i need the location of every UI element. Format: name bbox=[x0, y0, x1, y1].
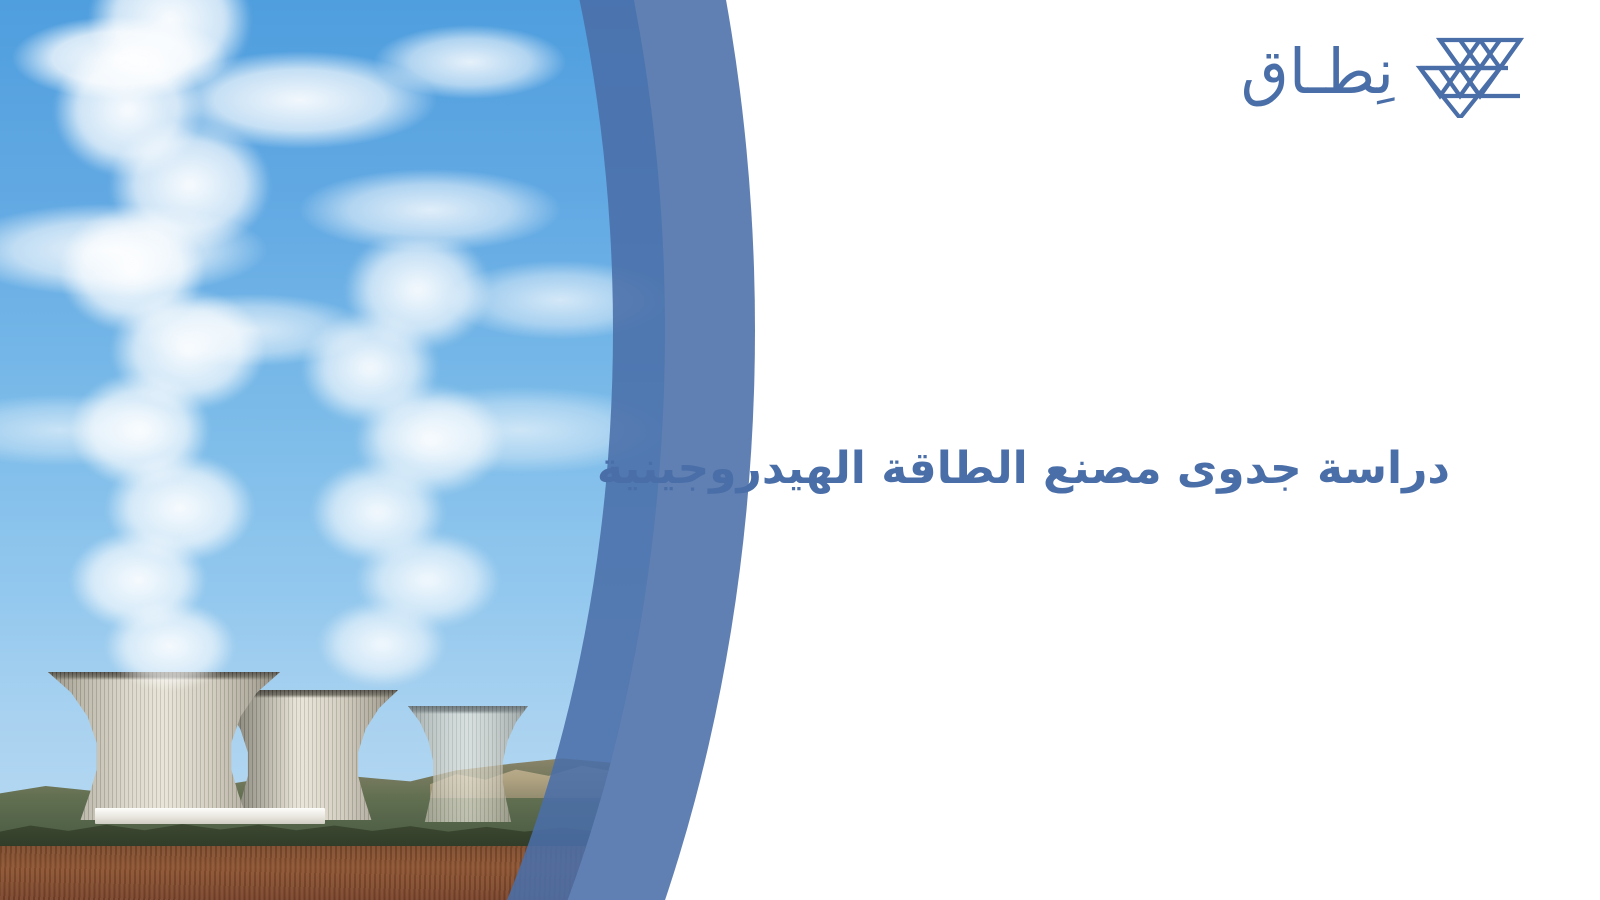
brand-wordmark: نِطـاق bbox=[1241, 41, 1394, 103]
plant-building-strip bbox=[95, 808, 325, 824]
ploughed-field bbox=[0, 846, 760, 900]
brand-logo: نِطـاق bbox=[1241, 26, 1528, 118]
triangle-lattice-icon bbox=[1408, 26, 1528, 118]
page-title: دراسة جدوى مصنع الطاقة الهيدروجينية bbox=[800, 441, 1450, 496]
steam-plume-large bbox=[20, 0, 350, 700]
title-slide: نِطـاق دراسة جدوى مصنع الطاقة الهيدروجين… bbox=[0, 0, 1600, 900]
